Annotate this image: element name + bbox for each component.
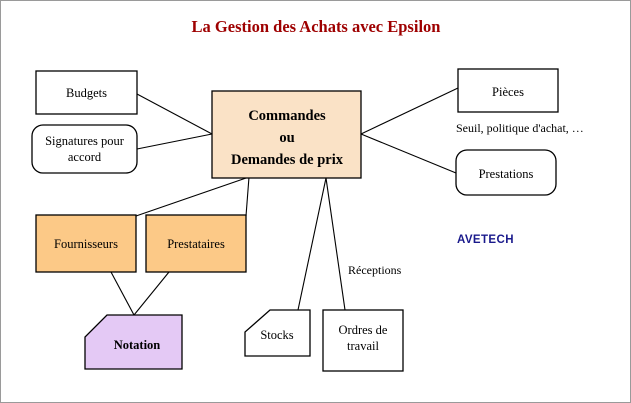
- ordres-label-line2: travail: [347, 339, 379, 353]
- central-label-line3: Demandes de prix: [231, 152, 344, 168]
- signatures-label-line2: accord: [68, 150, 102, 164]
- connector-fournisseurs-to-notation: [111, 272, 134, 315]
- ordres-label-line1: Ordres de: [339, 323, 388, 337]
- node-central-commandes[interactable]: Commandes ou Demandes de prix: [212, 91, 361, 178]
- notation-label: Notation: [114, 338, 161, 352]
- budgets-label: Budgets: [66, 86, 107, 100]
- signatures-label-line1: Signatures pour: [45, 134, 125, 148]
- node-prestations[interactable]: Prestations: [456, 150, 556, 195]
- node-ordres-de-travail[interactable]: Ordres de travail: [323, 310, 403, 371]
- connector-central-to-stocks: [298, 178, 326, 310]
- purchasing-flow-diagram: La Gestion des Achats avec Epsilon Budge…: [1, 1, 631, 403]
- connector-signatures-to-central: [137, 134, 212, 149]
- prestataires-label: Prestataires: [167, 237, 225, 251]
- signatures-box[interactable]: [32, 125, 137, 173]
- node-stocks[interactable]: Stocks: [245, 310, 310, 356]
- connector-central-to-pieces: [361, 88, 458, 134]
- prestations-label: Prestations: [479, 167, 534, 181]
- node-pieces[interactable]: Pièces: [458, 69, 558, 112]
- node-budgets[interactable]: Budgets: [36, 71, 137, 114]
- connector-budgets-to-central: [137, 94, 212, 134]
- page-title: La Gestion des Achats avec Epsilon: [192, 17, 441, 36]
- receptions-annotation: Réceptions: [348, 263, 402, 277]
- connector-central-to-prestations: [361, 134, 456, 173]
- fournisseurs-label: Fournisseurs: [54, 237, 118, 251]
- node-prestataires[interactable]: Prestataires: [146, 215, 246, 272]
- stocks-label: Stocks: [260, 328, 293, 342]
- brand-label: AVETECH: [457, 234, 514, 246]
- pieces-label: Pièces: [492, 85, 524, 99]
- connector-central-to-ordres: [326, 178, 345, 310]
- central-label-line2: ou: [279, 130, 294, 146]
- connector-central-to-fournisseurs: [136, 177, 249, 216]
- central-label-line1: Commandes: [248, 108, 326, 124]
- node-fournisseurs[interactable]: Fournisseurs: [36, 215, 136, 272]
- diagram-page: La Gestion des Achats avec Epsilon Budge…: [0, 0, 631, 403]
- node-signatures[interactable]: Signatures pour accord: [32, 125, 137, 173]
- seuil-annotation: Seuil, politique d'achat, …: [456, 121, 584, 135]
- node-notation[interactable]: Notation: [85, 315, 182, 369]
- connector-central-to-prestataires: [246, 177, 249, 216]
- connector-prestataires-to-notation: [134, 272, 169, 315]
